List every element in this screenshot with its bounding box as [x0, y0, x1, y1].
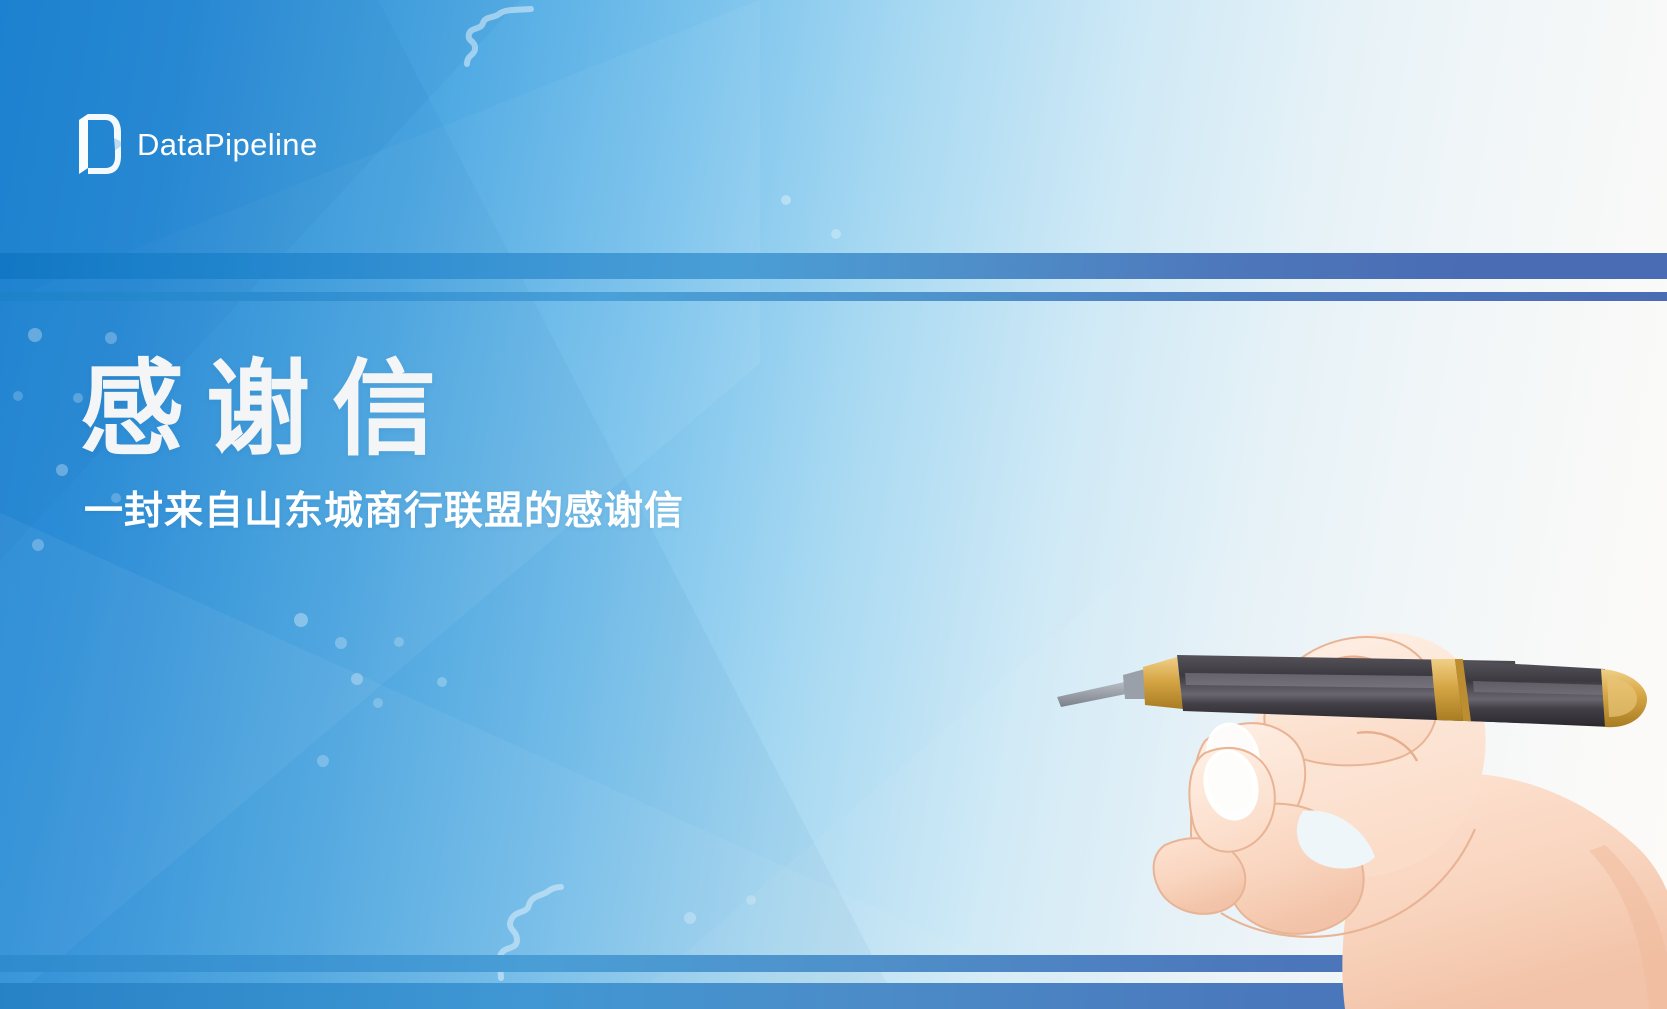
page-subtitle: 一封来自山东城商行联盟的感谢信 [84, 489, 684, 536]
brand-name: DataPipeline [137, 129, 318, 160]
decorative-dot [920, 957, 930, 967]
decorative-dot [351, 673, 363, 685]
decorative-dot [335, 637, 347, 649]
decorative-dot [56, 464, 68, 476]
cover-slide: DataPipeline 感谢信 一封来自山东城商行联盟的感谢信 [0, 0, 1667, 1009]
brand-logo-lockup: DataPipeline [76, 112, 318, 176]
decorative-dot [317, 755, 329, 767]
decorative-dot [765, 992, 775, 1002]
hand-holding-pen-illustration [1045, 545, 1667, 1009]
datapipeline-cube-logo-icon [76, 112, 122, 176]
decorative-dot [373, 698, 383, 708]
page-title: 感谢信 [80, 356, 684, 465]
decorative-dot [13, 391, 23, 401]
decorative-dot [105, 332, 117, 344]
divider-band-bottom-thick [0, 955, 1667, 972]
divider-band-top-thick [0, 253, 1667, 279]
decorative-dot [28, 328, 42, 342]
decorative-dot [781, 195, 791, 205]
hero-text-block: 感谢信 一封来自山东城商行联盟的感谢信 [80, 356, 684, 536]
decorative-dot [746, 895, 756, 905]
background-facet-lower-right [620, 560, 1520, 1009]
decorative-dot [32, 539, 44, 551]
decorative-dot [294, 613, 308, 627]
squiggle-bottom-right-icon [1400, 880, 1462, 980]
decorative-dot [831, 229, 841, 239]
squiggle-bottom-left-icon [495, 880, 565, 980]
decorative-dot [724, 956, 736, 968]
squiggle-top-icon [465, 6, 535, 66]
decorative-dot [394, 637, 404, 647]
decorative-dot [684, 912, 696, 924]
divider-band-bottom-base [0, 983, 1667, 1009]
divider-band-top-thin [0, 292, 1667, 301]
decorative-dot [437, 677, 447, 687]
